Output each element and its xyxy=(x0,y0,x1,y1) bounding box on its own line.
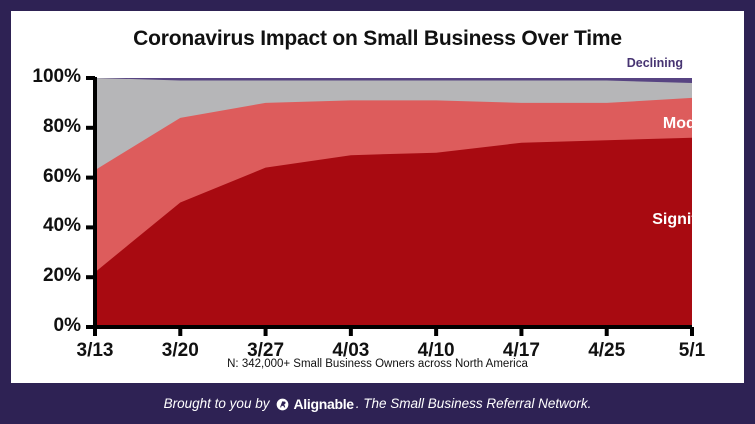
series-label-significant: Significant xyxy=(652,211,734,229)
series-label-declining: Declining xyxy=(627,56,683,70)
sample-size-note: N: 342,000+ Small Business Owners across… xyxy=(11,358,744,370)
series-label-none: None xyxy=(694,87,734,105)
y-axis-label-100pct: 100% xyxy=(11,66,81,88)
y-axis-label-60pct: 60% xyxy=(11,166,81,188)
footer-prefix-text: Brought to you by xyxy=(164,396,270,411)
y-axis-label-80pct: 80% xyxy=(11,116,81,138)
series-label-moderate: Moderate xyxy=(663,115,734,133)
footer-bar: Brought to you by Alignable . The Small … xyxy=(0,383,755,424)
footer-suffix-text: . The Small Business Referral Network. xyxy=(356,396,592,411)
y-axis-label-20pct: 20% xyxy=(11,265,81,287)
poster-frame: Coronavirus Impact on Small Business Ove… xyxy=(0,0,755,424)
y-axis-label-40pct: 40% xyxy=(11,215,81,237)
area-series-group xyxy=(95,78,692,327)
y-axis-label-0pct: 0% xyxy=(11,315,81,337)
footer-attribution: Brought to you by Alignable . The Small … xyxy=(164,396,592,412)
alignable-wordmark: Alignable xyxy=(293,396,353,412)
alignable-logo-icon xyxy=(276,398,289,411)
chart-plot-area: 0%20%40%60%80%100% 3/133/203/274/034/104… xyxy=(11,11,744,383)
chart-card: Coronavirus Impact on Small Business Ove… xyxy=(11,11,744,383)
